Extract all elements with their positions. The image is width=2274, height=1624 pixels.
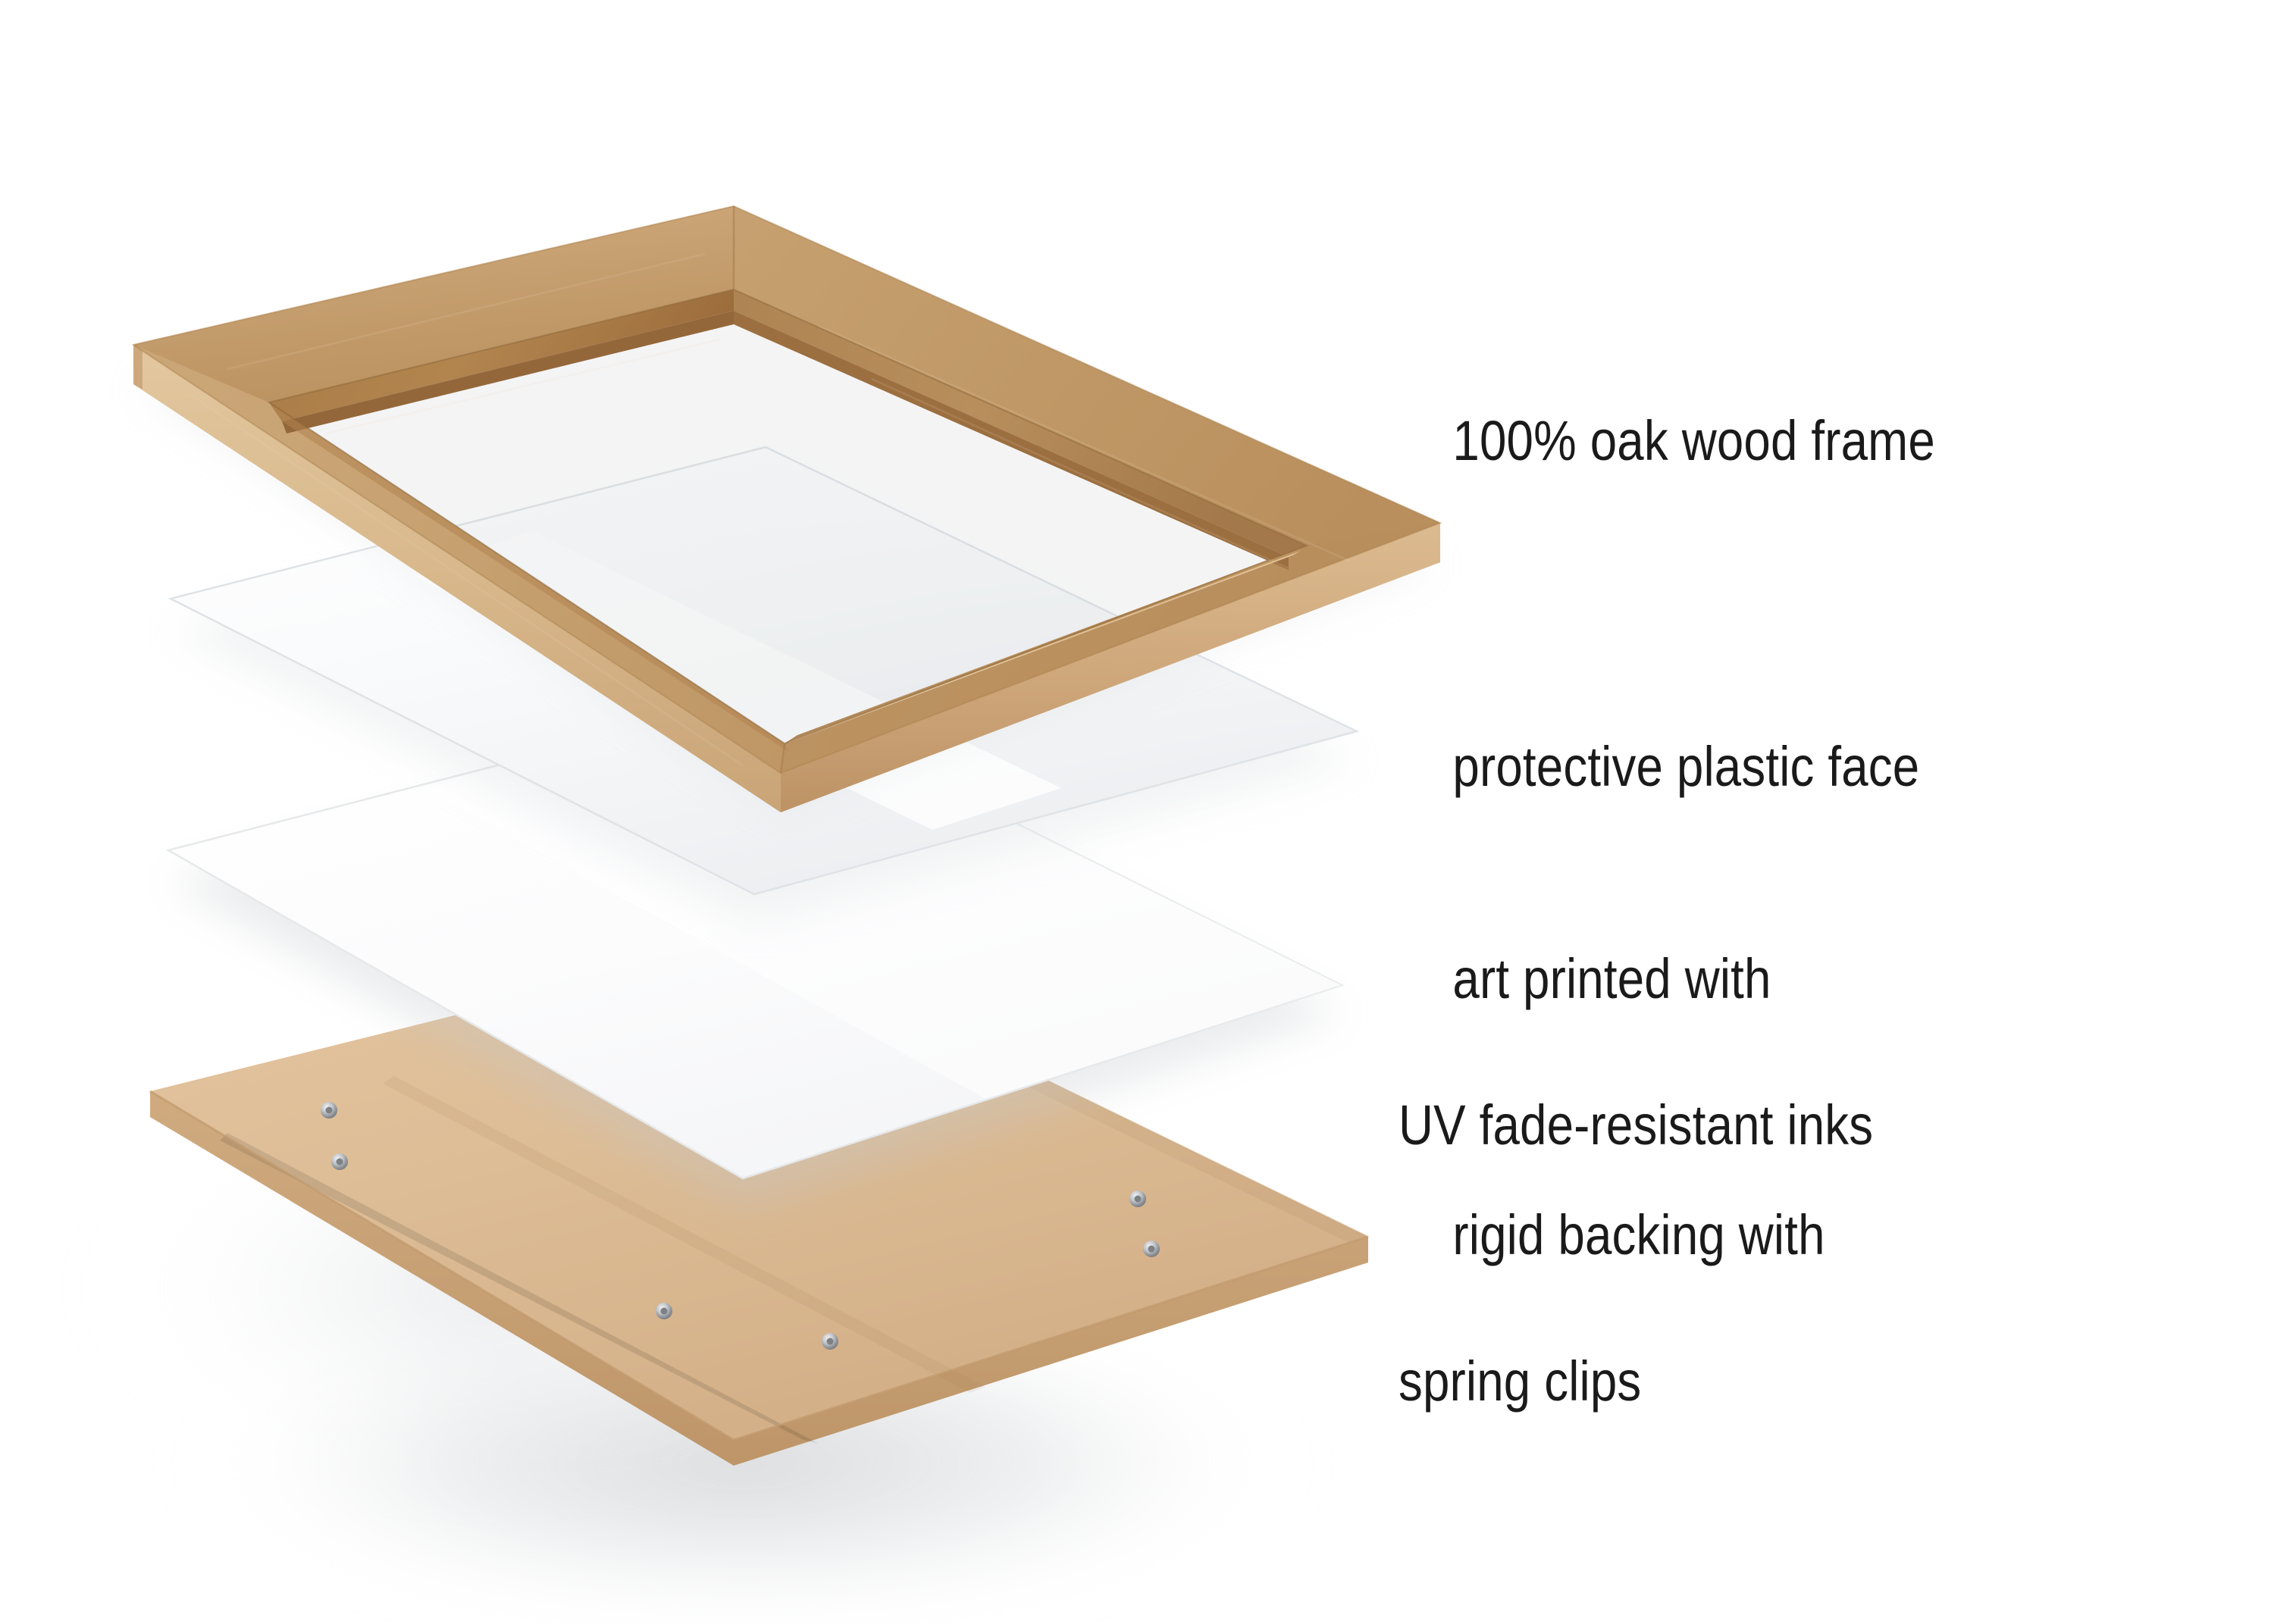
spring-clip [331, 1153, 348, 1170]
callout-line-1: rigid backing with [1452, 1203, 1825, 1266]
callout-line-1: art printed with [1452, 947, 1771, 1010]
callout-line-1: 100% oak wood frame [1452, 409, 1935, 472]
callout-line-2: spring clips [1399, 1345, 1825, 1418]
exploded-view-diagram: 100% oak wood frame protective plastic f… [0, 0, 2274, 1624]
assembly-illustration [0, 0, 2274, 1624]
spring-clip [321, 1102, 337, 1119]
callout-line-1: protective plastic face [1452, 735, 1919, 798]
callout-label-protective-plastic-face: protective plastic face [1399, 658, 1919, 877]
spring-clip [656, 1303, 672, 1319]
spring-clip [1129, 1191, 1146, 1207]
spring-clip [1143, 1241, 1160, 1257]
spring-clip [822, 1333, 838, 1350]
callout-label-oak-wood-frame: 100% oak wood frame [1399, 332, 1935, 551]
callout-label-rigid-backing: rigid backing with spring clips [1399, 1126, 1825, 1563]
